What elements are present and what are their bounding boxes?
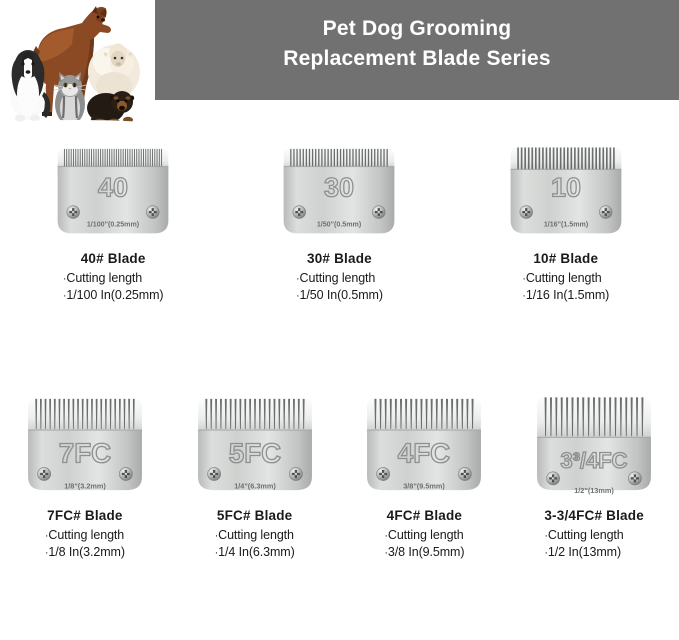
blade-screw: [547, 472, 560, 485]
blade-info: 7FC# Blade·Cutting length·1/8 In(3.2mm): [45, 508, 125, 561]
blade-screw: [293, 206, 306, 219]
blade-spec-text: Cutting length: [218, 528, 294, 542]
blade-illustration: 5FC1/4"(6.3mm): [182, 392, 328, 502]
blade-spec: ·Cutting length·1/100 In(0.25mm): [63, 271, 164, 304]
blade-number-engraving: 40: [98, 172, 128, 202]
blade-spec-text: 3/8 In(9.5mm): [388, 545, 465, 559]
blade-info: 10# Blade·Cutting length·1/16 In(1.5mm): [522, 251, 609, 304]
blade-number-engraving: 10: [551, 172, 581, 202]
blade-row-1: 401/100"(0.25mm)40# Blade·Cutting length…: [0, 138, 679, 304]
blade-size-engraving: 1/16"(1.5mm): [544, 220, 589, 228]
blade-image: 401/100"(0.25mm): [42, 138, 184, 245]
header: Pet Dog Grooming Replacement Blade Serie…: [0, 0, 679, 130]
animal-group-illustration: [2, 2, 152, 128]
blade-screw: [147, 206, 160, 219]
blade-info: 30# Blade·Cutting length·1/50 In(0.5mm): [296, 251, 383, 304]
animal-group-photo: [2, 2, 152, 128]
blade-info: 3-3/4FC# Blade·Cutting length·1/2 In(13m…: [544, 508, 644, 561]
blade-screw: [459, 467, 472, 480]
page-title-line-1: Pet Dog Grooming: [155, 14, 679, 44]
blade-size-engraving: 3/8"(9.5mm): [404, 482, 446, 491]
blade-spec-line-1: ·Cutting length: [522, 271, 609, 288]
blade-spec-line-2: ·1/8 In(3.2mm): [45, 545, 125, 562]
blade-spec-line-1: ·Cutting length: [215, 528, 295, 545]
blade-spec-text: 1/16 In(1.5mm): [526, 288, 609, 302]
blade-card-10[interactable]: 101/16"(1.5mm)10# Blade·Cutting length·1…: [453, 138, 679, 304]
blade-spec-line-1: ·Cutting length: [63, 271, 164, 288]
blade-image: 301/50"(0.5mm): [268, 138, 410, 245]
blade-number-engraving: 7FC: [59, 437, 111, 468]
blade-comb-plate: [367, 398, 481, 435]
blade-illustration: 101/16"(1.5mm): [495, 138, 637, 245]
blade-spec: ·Cutting length·1/2 In(13mm): [544, 528, 644, 561]
blade-info: 4FC# Blade·Cutting length·3/8 In(9.5mm): [384, 508, 464, 561]
blade-spec: ·Cutting length·3/8 In(9.5mm): [384, 528, 464, 561]
blade-name: 40# Blade: [63, 251, 164, 266]
page-title-line-2: Replacement Blade Series: [155, 44, 679, 74]
blade-size-engraving: 1/100"(0.25mm): [87, 220, 140, 228]
blade-spec: ·Cutting length·1/4 In(6.3mm): [215, 528, 295, 561]
blade-card-40[interactable]: 401/100"(0.25mm)40# Blade·Cutting length…: [0, 138, 226, 304]
blade-illustration: 7FC1/8"(3.2mm): [12, 392, 158, 502]
blade-image: 5FC1/4"(6.3mm): [182, 392, 328, 502]
blade-number-engraving: 30: [324, 172, 354, 202]
blade-image: 3³/4FC1/2"(13mm): [521, 392, 667, 502]
blade-spec-text: 1/2 In(13mm): [548, 545, 621, 559]
blade-spec-text: Cutting length: [388, 528, 464, 542]
blade-spec-text: Cutting length: [300, 271, 376, 285]
header-banner: Pet Dog Grooming Replacement Blade Serie…: [155, 0, 679, 100]
blade-row-2: 7FC1/8"(3.2mm)7FC# Blade·Cutting length·…: [0, 392, 679, 561]
blade-number-engraving: 3³/4FC: [561, 448, 628, 473]
blade-spec-line-2: ·1/4 In(6.3mm): [215, 545, 295, 562]
blade-name: 3-3/4FC# Blade: [544, 508, 644, 523]
page-title: Pet Dog Grooming Replacement Blade Serie…: [155, 14, 679, 74]
blade-name: 10# Blade: [522, 251, 609, 266]
blade-spec-text: Cutting length: [548, 528, 624, 542]
blade-number-engraving: 5FC: [228, 437, 280, 468]
blade-screw: [599, 206, 612, 219]
blade-spec-line-2: ·1/16 In(1.5mm): [522, 288, 609, 305]
blade-spec-line-1: ·Cutting length: [384, 528, 464, 545]
blade-screw: [373, 206, 386, 219]
blade-spec-line-2: ·3/8 In(9.5mm): [384, 545, 464, 562]
blade-spec: ·Cutting length·1/8 In(3.2mm): [45, 528, 125, 561]
blade-card-34FC[interactable]: 3³/4FC1/2"(13mm)3-3/4FC# Blade·Cutting l…: [509, 392, 679, 561]
blade-spec-line-2: ·1/100 In(0.25mm): [63, 288, 164, 305]
blade-name: 4FC# Blade: [384, 508, 464, 523]
blade-illustration: 401/100"(0.25mm): [42, 138, 184, 245]
blade-spec-line-1: ·Cutting length: [544, 528, 644, 545]
blade-screw: [37, 467, 50, 480]
blade-spec-line-1: ·Cutting length: [45, 528, 125, 545]
blade-screw: [520, 206, 533, 219]
blade-spec: ·Cutting length·1/50 In(0.5mm): [296, 271, 383, 304]
blade-screw: [628, 472, 641, 485]
blade-size-engraving: 1/50"(0.5mm): [317, 220, 362, 228]
blade-name: 30# Blade: [296, 251, 383, 266]
blade-card-4FC[interactable]: 4FC3/8"(9.5mm)4FC# Blade·Cutting length·…: [340, 392, 510, 561]
blade-screw: [377, 467, 390, 480]
blade-number-engraving: 4FC: [398, 437, 450, 468]
blade-card-5FC[interactable]: 5FC1/4"(6.3mm)5FC# Blade·Cutting length·…: [170, 392, 340, 561]
blade-spec-text: 1/100 In(0.25mm): [66, 288, 163, 302]
blade-spec-text: 1/4 In(6.3mm): [218, 545, 295, 559]
blade-spec-text: 1/8 In(3.2mm): [48, 545, 125, 559]
blade-illustration: 4FC3/8"(9.5mm): [351, 392, 497, 502]
blade-image: 101/16"(1.5mm): [495, 138, 637, 245]
blade-card-7FC[interactable]: 7FC1/8"(3.2mm)7FC# Blade·Cutting length·…: [0, 392, 170, 561]
blade-size-engraving: 1/8"(3.2mm): [64, 482, 106, 491]
blade-name: 7FC# Blade: [45, 508, 125, 523]
blade-name: 5FC# Blade: [215, 508, 295, 523]
blade-info: 40# Blade·Cutting length·1/100 In(0.25mm…: [63, 251, 164, 304]
blade-spec-line-2: ·1/2 In(13mm): [544, 545, 644, 562]
blade-screw: [67, 206, 80, 219]
blade-screw: [289, 467, 302, 480]
blade-card-30[interactable]: 301/50"(0.5mm)30# Blade·Cutting length·1…: [226, 138, 452, 304]
blade-size-engraving: 1/4"(6.3mm): [234, 482, 276, 491]
blade-illustration: 301/50"(0.5mm): [268, 138, 410, 245]
blade-image: 7FC1/8"(3.2mm): [12, 392, 158, 502]
blade-spec-text: Cutting length: [66, 271, 142, 285]
blade-spec-line-2: ·1/50 In(0.5mm): [296, 288, 383, 305]
blade-spec: ·Cutting length·1/16 In(1.5mm): [522, 271, 609, 304]
blade-screw: [207, 467, 220, 480]
blade-spec-text: Cutting length: [526, 271, 602, 285]
blade-info: 5FC# Blade·Cutting length·1/4 In(6.3mm): [215, 508, 295, 561]
blade-spec-text: Cutting length: [48, 528, 124, 542]
blade-screw: [119, 467, 132, 480]
blade-spec-line-1: ·Cutting length: [296, 271, 383, 288]
blade-image: 4FC3/8"(9.5mm): [351, 392, 497, 502]
blade-spec-text: 1/50 In(0.5mm): [300, 288, 383, 302]
blade-size-engraving: 1/2"(13mm): [574, 486, 614, 495]
blade-illustration: 3³/4FC1/2"(13mm): [521, 392, 667, 502]
